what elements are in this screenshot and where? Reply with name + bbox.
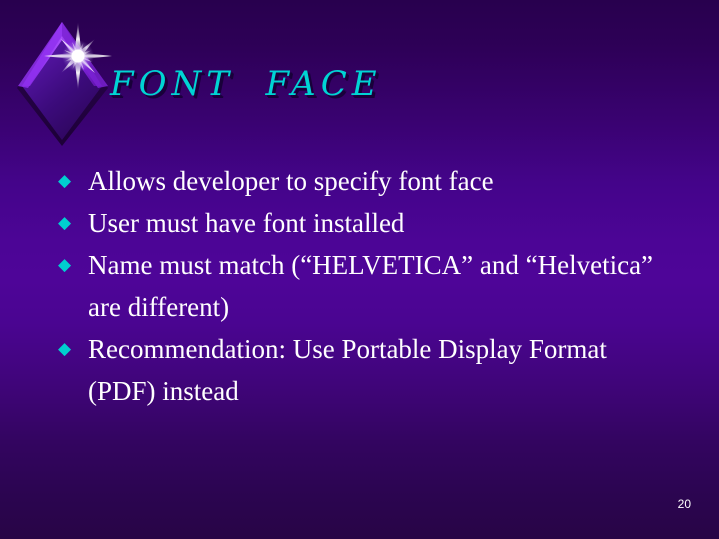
diamond-bullet-icon: ◆ xyxy=(56,202,88,244)
list-item-label: Recommendation: Use Portable Display For… xyxy=(88,328,676,412)
list-item-label: User must have font installed xyxy=(88,202,676,244)
diamond-highlight-right xyxy=(62,22,108,88)
diamond-face xyxy=(22,26,102,140)
diamond-bullet-icon: ◆ xyxy=(56,244,88,286)
slide-decoration xyxy=(12,16,118,152)
list-item: ◆ Name must match (“HELVETICA” and “Helv… xyxy=(56,244,676,328)
list-item-label: Allows developer to specify font face xyxy=(88,160,676,202)
bullet-list: ◆ Allows developer to specify font face … xyxy=(56,160,676,412)
slide-page-number: 20 xyxy=(678,497,691,511)
diamond-highlight-left xyxy=(18,22,62,88)
diamond-edge-left xyxy=(22,22,62,86)
starburst xyxy=(44,22,112,90)
list-item: ◆ Recommendation: Use Portable Display F… xyxy=(56,328,676,412)
diamond-bullet-icon: ◆ xyxy=(56,160,88,202)
presentation-slide: FONT FACE ◆ Allows developer to specify … xyxy=(0,0,719,539)
diamond-bullet-icon: ◆ xyxy=(56,328,88,370)
diamond-edge-right xyxy=(62,22,102,86)
list-item-label: Name must match (“HELVETICA” and “Helvet… xyxy=(88,244,676,328)
list-item: ◆ Allows developer to specify font face xyxy=(56,160,676,202)
slide-title: FONT FACE xyxy=(110,64,382,104)
list-item: ◆ User must have font installed xyxy=(56,202,676,244)
diamond-starburst-graphic xyxy=(12,16,118,152)
diamond-shadow xyxy=(17,22,108,146)
